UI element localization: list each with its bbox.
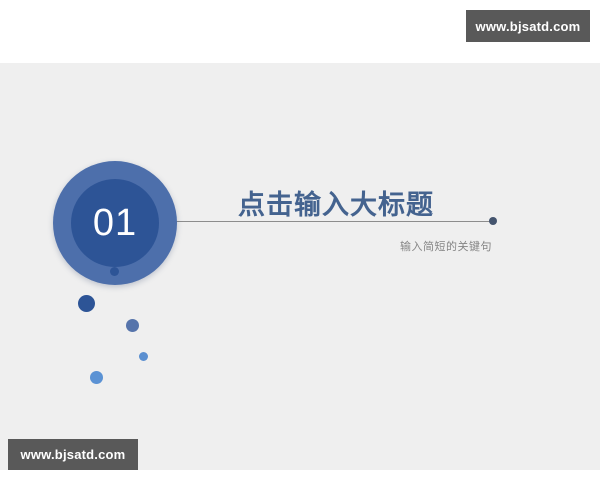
number-badge-inner-circle: 01 — [71, 179, 159, 267]
number-badge-label: 01 — [93, 204, 137, 242]
number-badge-outer-ring: 01 — [53, 161, 177, 285]
deco-dot-3 — [139, 352, 148, 361]
slide-canvas: www.bjsatd.com www.bjsatd.com 01 点击输入大标题… — [0, 0, 600, 480]
background-band-bottom — [0, 470, 600, 480]
slide-subtitle[interactable]: 输入简短的关键句 — [292, 238, 492, 254]
deco-dot-2 — [126, 319, 139, 332]
number-badge-marker-dot — [110, 267, 119, 276]
watermark-top-right: www.bjsatd.com — [466, 10, 590, 42]
watermark-bottom-left: www.bjsatd.com — [8, 439, 138, 470]
connector-endpoint-dot — [489, 217, 497, 225]
slide-title[interactable]: 点击输入大标题 — [238, 183, 434, 222]
deco-dot-1 — [78, 295, 95, 312]
deco-dot-4 — [90, 371, 103, 384]
